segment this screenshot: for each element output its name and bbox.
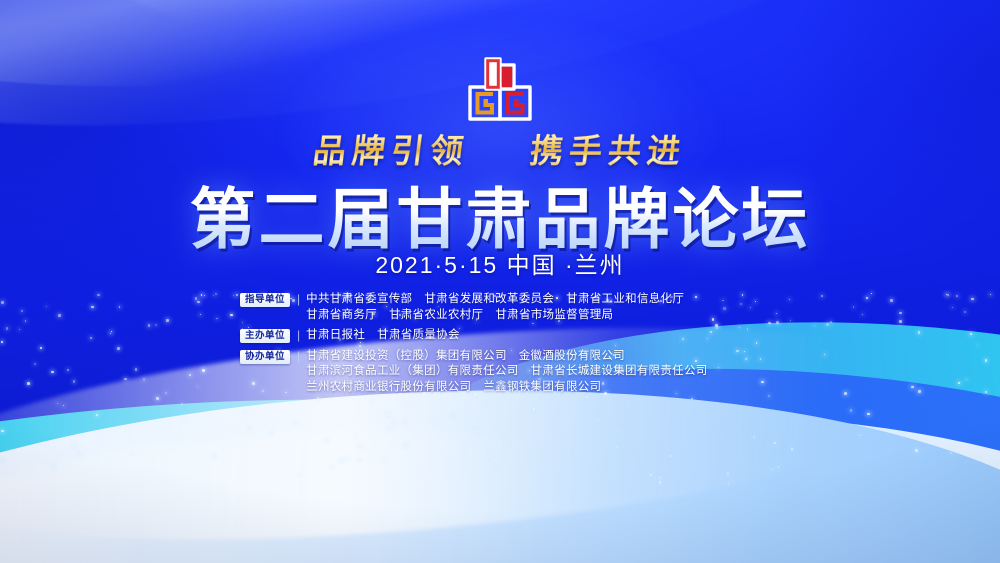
organizer-name: 甘肃省工业和信息化厅 <box>566 293 684 305</box>
organizer-name: 兰鑫钢铁集团有限公司 <box>483 381 601 393</box>
organizer-separator: | <box>297 349 300 364</box>
slogan-calligraphy: 品牌引领 携手共进 <box>0 124 1000 172</box>
poster-content: 品牌引领 携手共进 第二届甘肃品牌论坛 2021·5·15 中国 ·兰州 指导单… <box>0 0 1000 563</box>
organizer-name: 甘肃省长城建设集团有限责任公司 <box>531 365 708 377</box>
organizer-badge: 主办单位 <box>240 329 290 343</box>
poster-canvas: 品牌引领 携手共进 第二届甘肃品牌论坛 2021·5·15 中国 ·兰州 指导单… <box>0 0 1000 563</box>
organizer-list: 指导单位|中共甘肃省委宣传部甘肃省发展和改革委员会甘肃省工业和信息化厅甘肃省商务… <box>240 292 760 400</box>
organizer-lines: 甘肃省建设投资（控股）集团有限公司金徽酒股份有限公司甘肃滨河食品工业（集团）有限… <box>306 349 760 396</box>
organizer-separator: | <box>297 292 300 307</box>
organizer-name: 甘肃省市场监督管理局 <box>495 309 613 321</box>
organizer-group: 指导单位|中共甘肃省委宣传部甘肃省发展和改革委员会甘肃省工业和信息化厅甘肃省商务… <box>240 292 760 323</box>
organizer-lines: 甘肃日报社甘肃省质量协会 <box>306 328 760 344</box>
organizer-name: 甘肃省农业农村厅 <box>389 309 483 321</box>
organizer-name: 兰州农村商业银行股份有限公司 <box>306 381 471 393</box>
organizer-line: 甘肃日报社甘肃省质量协会 <box>306 328 760 344</box>
organizer-name: 甘肃滨河食品工业（集团）有限责任公司 <box>306 365 518 377</box>
organizer-name: 金徽酒股份有限公司 <box>519 350 625 362</box>
organizer-line: 甘肃滨河食品工业（集团）有限责任公司甘肃省长城建设集团有限责任公司 <box>306 364 760 380</box>
organizer-name: 甘肃省质量协会 <box>377 329 460 341</box>
gansu-brand-gg-logo-icon <box>454 55 546 125</box>
organizer-group: 协办单位|甘肃省建设投资（控股）集团有限公司金徽酒股份有限公司甘肃滨河食品工业（… <box>240 349 760 396</box>
organizer-badge: 指导单位 <box>240 293 290 307</box>
slogan-left: 品牌引领 <box>311 131 472 170</box>
organizer-line: 甘肃省建设投资（控股）集团有限公司金徽酒股份有限公司 <box>306 349 760 365</box>
organizer-line: 兰州农村商业银行股份有限公司兰鑫钢铁集团有限公司 <box>306 380 760 396</box>
organizer-name: 甘肃日报社 <box>306 329 365 341</box>
organizer-group: 主办单位|甘肃日报社甘肃省质量协会 <box>240 328 760 344</box>
organizer-name: 甘肃省发展和改革委员会 <box>424 293 554 305</box>
organizer-lines: 中共甘肃省委宣传部甘肃省发展和改革委员会甘肃省工业和信息化厅甘肃省商务厅甘肃省农… <box>306 292 760 323</box>
organizer-name: 甘肃省建设投资（控股）集团有限公司 <box>306 350 507 362</box>
event-date-location: 2021·5·15 中国 ·兰州 <box>0 246 1000 280</box>
organizer-line: 中共甘肃省委宣传部甘肃省发展和改革委员会甘肃省工业和信息化厅 <box>306 292 760 308</box>
organizer-badge: 协办单位 <box>240 350 290 364</box>
organizer-line: 甘肃省商务厅甘肃省农业农村厅甘肃省市场监督管理局 <box>306 308 760 324</box>
slogan-right: 携手共进 <box>528 131 689 170</box>
organizer-name: 甘肃省商务厅 <box>306 309 377 321</box>
organizer-separator: | <box>297 328 300 343</box>
organizer-name: 中共甘肃省委宣传部 <box>306 293 412 305</box>
